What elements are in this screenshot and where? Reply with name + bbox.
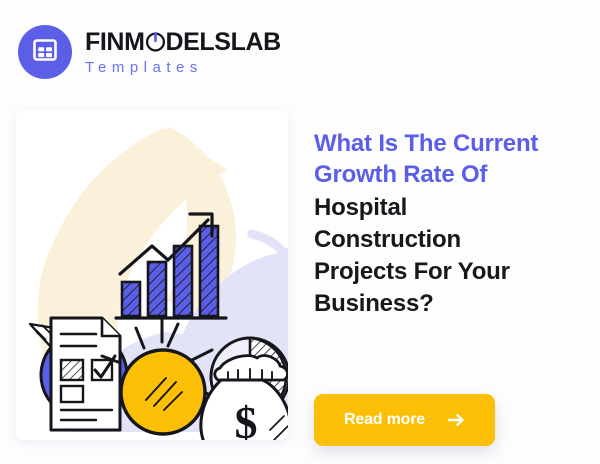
grid-table-icon [31, 36, 59, 69]
arrow-right-icon [447, 413, 465, 427]
headline-main-line-4: Business? [314, 288, 582, 320]
brand-logo[interactable]: FINM DELSLAB Templates [18, 25, 281, 79]
headline-accent: What Is The Current Growth Rate Of [314, 128, 582, 190]
read-more-button[interactable]: Read more [314, 394, 495, 446]
headline-accent-line-2: Growth Rate Of [314, 159, 582, 190]
brand-title-before: FINM [85, 30, 145, 55]
illustration-card: $ [16, 110, 288, 440]
business-growth-illustration: $ [16, 110, 288, 440]
headline-main-line-1: Hospital [314, 192, 582, 224]
read-more-label: Read more [344, 411, 425, 429]
promo-banner: FINM DELSLAB Templates [0, 0, 600, 464]
brand-title-after: DELSLAB [166, 30, 281, 55]
brand-title: FINM DELSLAB [85, 30, 281, 55]
headline-accent-line-1: What Is The Current [314, 128, 582, 159]
headline-main-line-3: Projects For Your [314, 256, 582, 288]
headline-main-line-2: Construction [314, 224, 582, 256]
svg-text:$: $ [235, 397, 258, 440]
document-with-checkmark [51, 318, 120, 430]
brand-mark [18, 25, 72, 79]
brand-subtitle: Templates [85, 60, 281, 75]
power-button-icon [145, 31, 166, 52]
headline-main: Hospital Construction Projects For Your … [314, 192, 582, 320]
headline-block: What Is The Current Growth Rate Of Hospi… [314, 128, 582, 320]
brand-wordmark: FINM DELSLAB Templates [85, 30, 281, 75]
